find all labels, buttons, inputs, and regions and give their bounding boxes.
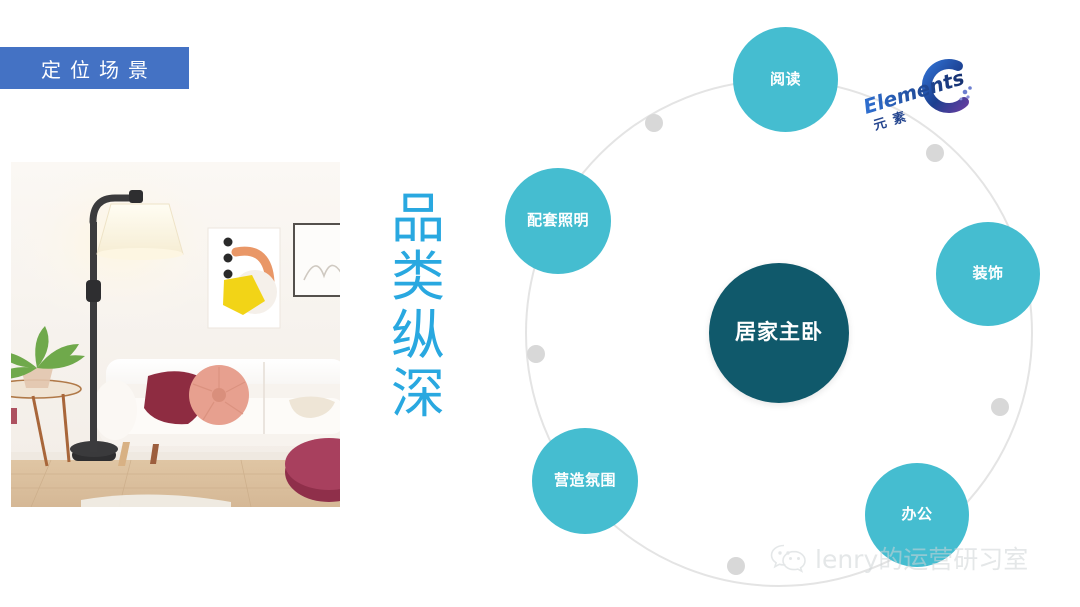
elements-brand-logo: Elements 元素 — [862, 52, 982, 142]
diagram-node-reading[interactable]: 阅读 — [733, 27, 838, 132]
wechat-icon — [770, 542, 808, 574]
diagram-node-decor-label: 装饰 — [972, 265, 1003, 283]
diagram-node-decor[interactable]: 装饰 — [936, 222, 1040, 326]
page-title-vertical: 品 类 纵 深 — [386, 190, 450, 423]
diagram-node-atmosphere[interactable]: 营造氛围 — [532, 428, 638, 534]
diagram-node-center[interactable]: 居家主卧 — [709, 263, 849, 403]
watermark-label: lenry的运营研习室 — [815, 540, 1028, 576]
section-header-banner: 定位场景 — [0, 47, 189, 89]
page-title-char-4: 深 — [391, 365, 445, 423]
living-room-photo — [11, 162, 340, 507]
elements-logo-mark: Elements 元素 — [862, 52, 982, 142]
page-title-char-2: 类 — [391, 248, 445, 306]
diagram-node-lighting-label: 配套照明 — [527, 212, 589, 230]
diagram-node-center-label: 居家主卧 — [735, 320, 823, 345]
page-title-char-3: 纵 — [391, 307, 445, 365]
diagram-node-lighting[interactable]: 配套照明 — [505, 168, 611, 274]
diagram-node-reading-label: 阅读 — [770, 71, 801, 89]
section-header-label: 定位场景 — [32, 54, 157, 83]
diagram-node-office-label: 办公 — [901, 506, 932, 524]
diagram-node-atmosphere-label: 营造氛围 — [554, 472, 616, 490]
ring-connector-dot-1 — [645, 114, 663, 132]
page-title-char-1: 品 — [391, 190, 445, 248]
ring-connector-dot-5 — [527, 345, 545, 363]
radial-scenario-diagram: 阅读 装饰 办公 营造氛围 配套照明 居家主卧 — [470, 0, 1080, 607]
channel-watermark: lenry的运营研习室 — [770, 538, 1028, 578]
ring-connector-dot-3 — [991, 398, 1009, 416]
living-room-photo-illustration — [11, 162, 340, 507]
ring-connector-dot-4 — [727, 557, 745, 575]
ring-connector-dot-2 — [926, 144, 944, 162]
